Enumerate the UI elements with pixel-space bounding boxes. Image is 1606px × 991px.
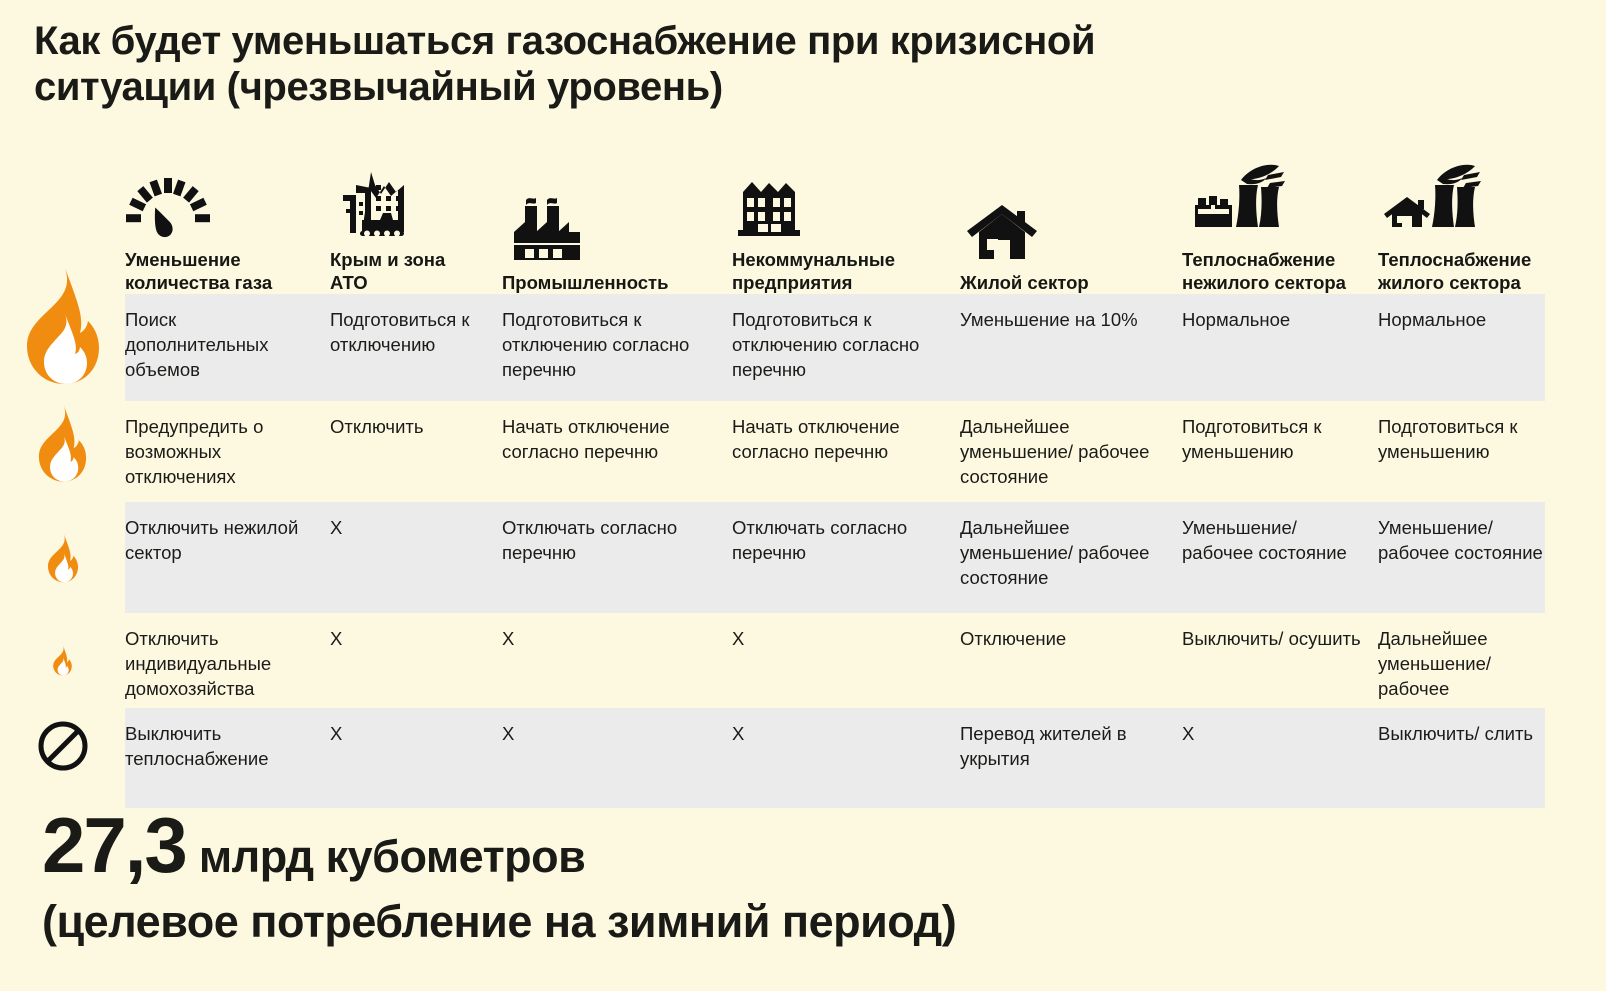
table-row: Выключить теплоснабжениеXXXПеревод жител… xyxy=(0,708,1606,808)
column-header-label: Крым и зона АТО xyxy=(330,248,488,294)
title-line-1: Как будет уменьшаться газоснабжение при … xyxy=(34,18,1434,64)
table-cell: Подготовиться к отключению xyxy=(330,294,502,401)
table-row: Предупредить о возможных отключенияхОткл… xyxy=(0,401,1606,502)
table-cell: Дальнейшее уменьшение/ рабочее состояние xyxy=(960,502,1182,613)
table-cell: X xyxy=(732,613,960,708)
title-line-2: ситуации (чрезвычайный уровень) xyxy=(34,64,1434,110)
table-body: Поиск дополнительных объемовПодготовитьс… xyxy=(0,294,1606,808)
flame-icon-size-2 xyxy=(0,533,125,583)
table-cell: Подготовиться к отключению согласно пере… xyxy=(502,294,732,401)
table-row: Отключить индивидуальные домохозяйстваXX… xyxy=(0,613,1606,708)
column-header-label: Теплоснабжение нежилого сектора xyxy=(1182,248,1364,294)
table-cell: Выключить теплоснабжение xyxy=(125,708,330,808)
table-cell: X xyxy=(1182,708,1378,808)
page-title: Как будет уменьшаться газоснабжение при … xyxy=(34,18,1434,110)
table-cell: Перевод жителей в укрытия xyxy=(960,708,1182,808)
table-cell: Уменьшение/ рабочее состояние xyxy=(1182,502,1378,613)
footer-note: (целевое потребление на зимний период) xyxy=(42,896,1542,948)
table-cell: Начать отключение согласно перечню xyxy=(732,401,960,502)
column-header-label: Уменьшение количества газа xyxy=(125,248,316,294)
table-cell: Отключить нежилой сектор xyxy=(125,502,330,613)
no-gas-icon xyxy=(0,718,125,774)
table-cell: Отключение xyxy=(960,613,1182,708)
table-cell: Уменьшение/ рабочее состояние xyxy=(1378,502,1573,613)
table-cell: X xyxy=(732,708,960,808)
tank-building-icon xyxy=(330,166,488,238)
column-header-label: Жилой сектор xyxy=(960,271,1168,294)
house-icon xyxy=(960,189,1168,261)
footer-unit: млрд кубометров xyxy=(199,834,585,879)
flame-icon-size-1 xyxy=(0,645,125,676)
table-cell: Отключать согласно перечню xyxy=(732,502,960,613)
table-cell: Поиск дополнительных объемов xyxy=(125,294,330,401)
flame-icon-size-4 xyxy=(0,266,125,386)
infographic-page: Как будет уменьшаться газоснабжение при … xyxy=(0,0,1606,991)
table-cell: Выключить/ осушить xyxy=(1182,613,1378,708)
table-cell: X xyxy=(502,613,732,708)
footer-amount: 27,3 xyxy=(42,806,186,884)
column-header-label: Некоммунальные предприятия xyxy=(732,248,946,294)
power-plant-residential-icon xyxy=(1378,166,1559,238)
power-plant-industrial-icon xyxy=(1182,166,1364,238)
table-cell: Отключить xyxy=(330,401,502,502)
table-cell: Выключить/ слить xyxy=(1378,708,1573,808)
table-cell: Подготовиться к отключению согласно пере… xyxy=(732,294,960,401)
footer-amount-line: 27,3 млрд кубометров xyxy=(42,806,1542,884)
gas-reduction-table: Уменьшение количества газа xyxy=(0,118,1606,808)
table-cell: Подготовиться к уменьшению xyxy=(1378,401,1573,502)
column-header-gas-reduction: Уменьшение количества газа xyxy=(125,118,330,294)
footer-summary: 27,3 млрд кубометров (целевое потреблени… xyxy=(42,806,1542,948)
table-cell: X xyxy=(330,613,502,708)
table-cell: Предупредить о возможных отключениях xyxy=(125,401,330,502)
table-row: Поиск дополнительных объемовПодготовитьс… xyxy=(0,294,1606,401)
column-header-crimea-ato: Крым и зона АТО xyxy=(330,118,502,294)
table-cell: X xyxy=(502,708,732,808)
table-cell: Подготовиться к уменьшению xyxy=(1182,401,1378,502)
table-cell: Отключать согласно перечню xyxy=(502,502,732,613)
table-cell: Дальнейшее уменьшение/ рабочее состояние xyxy=(960,401,1182,502)
column-header-label: Промышленность xyxy=(502,271,718,294)
table-cell: X xyxy=(330,708,502,808)
column-header-noncommunal: Некоммунальные предприятия xyxy=(732,118,960,294)
column-header-label: Теплоснабжение жилого сектора xyxy=(1378,248,1559,294)
table-cell: Отключить индивидуальные домохозяйства xyxy=(125,613,330,708)
column-header-industry: Промышленность xyxy=(502,118,732,294)
table-header-row: Уменьшение количества газа xyxy=(0,118,1606,294)
flame-icon-size-3 xyxy=(0,404,125,483)
table-grid: Уменьшение количества газа xyxy=(0,118,1606,808)
table-cell: Дальнейшее уменьшение/ рабочее xyxy=(1378,613,1573,708)
table-cell: Нормальное xyxy=(1378,294,1573,401)
table-cell: Уменьшение на 10% xyxy=(960,294,1182,401)
factory-icon xyxy=(502,189,718,261)
gauge-icon xyxy=(125,166,316,238)
table-row: Отключить нежилой секторXОтключать согла… xyxy=(0,502,1606,613)
column-header-residential: Жилой сектор xyxy=(960,118,1182,294)
apartment-building-icon xyxy=(732,166,946,238)
table-cell: X xyxy=(330,502,502,613)
column-header-heat-residential: Теплоснабжение жилого сектора xyxy=(1378,118,1573,294)
column-header-heat-nonresidential: Теплоснабжение нежилого сектора xyxy=(1182,118,1378,294)
table-cell: Нормальное xyxy=(1182,294,1378,401)
table-cell: Начать отключение согласно перечню xyxy=(502,401,732,502)
